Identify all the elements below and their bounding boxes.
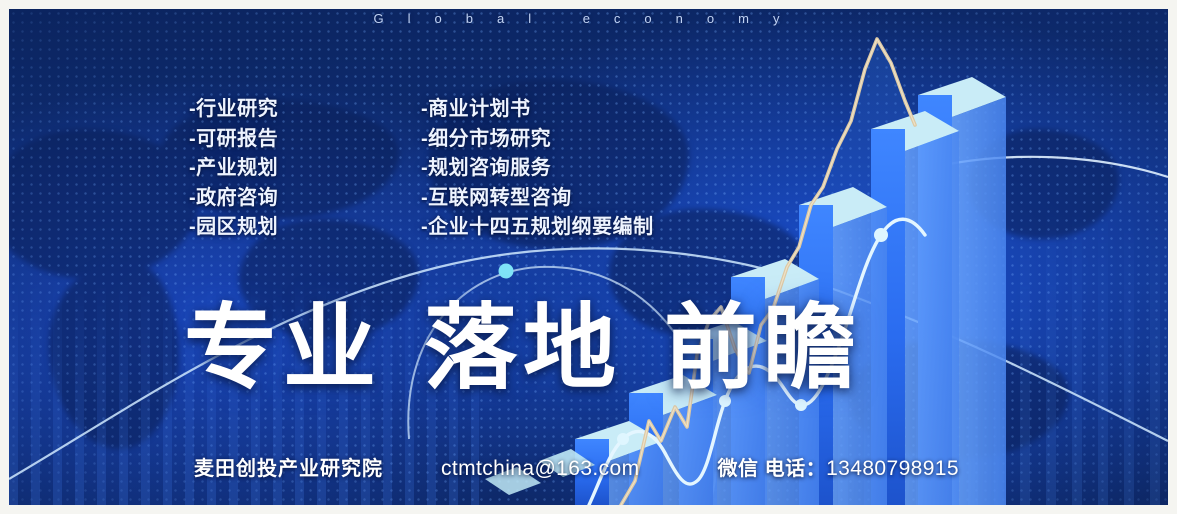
service-item: -园区规划 [189, 213, 278, 243]
service-item: -行业研究 [189, 95, 278, 125]
service-item: -商业计划书 [421, 95, 654, 125]
cyan-line-node [795, 399, 807, 411]
orbit-node-dot [499, 264, 514, 279]
slogan-word-2: 落地 [424, 302, 622, 395]
slogan-word-1: 专业 [184, 302, 382, 395]
promo-banner: Global economy -行业研究 -可研报告 -产业规划 -政府咨询 -… [0, 0, 1177, 514]
contact-phone[interactable]: 13480798915 [826, 457, 959, 481]
header-tagline: Global economy [9, 11, 1168, 26]
organization-name: 麦田创投产业研究院 [194, 452, 383, 481]
contact-email[interactable]: ctmtchina@163.com [441, 457, 640, 481]
main-slogan: 专业落地前瞻 [184, 302, 862, 395]
service-item: -政府咨询 [189, 184, 278, 214]
cyan-line-node [874, 228, 888, 242]
service-item: -可研报告 [189, 125, 278, 155]
banner-frame: Global economy -行业研究 -可研报告 -产业规划 -政府咨询 -… [9, 9, 1168, 505]
service-list-right: -商业计划书 -细分市场研究 -规划咨询服务 -互联网转型咨询 -企业十四五规划… [421, 95, 654, 243]
service-list-left: -行业研究 -可研报告 -产业规划 -政府咨询 -园区规划 [189, 95, 278, 243]
footer-contact-bar: 麦田创投产业研究院 ctmtchina@163.com 微信 电话： 13480… [194, 452, 959, 481]
contact-channel-label: 微信 电话： [718, 452, 827, 481]
economic-growth-chart-graphic [9, 9, 1168, 505]
cyan-line-node [617, 433, 629, 445]
service-item: -互联网转型咨询 [421, 184, 654, 214]
service-item: -细分市场研究 [421, 125, 654, 155]
service-item: -规划咨询服务 [421, 154, 654, 184]
slogan-word-3: 前瞻 [664, 302, 862, 395]
service-item: -企业十四五规划纲要编制 [421, 213, 654, 243]
service-item: -产业规划 [189, 154, 278, 184]
